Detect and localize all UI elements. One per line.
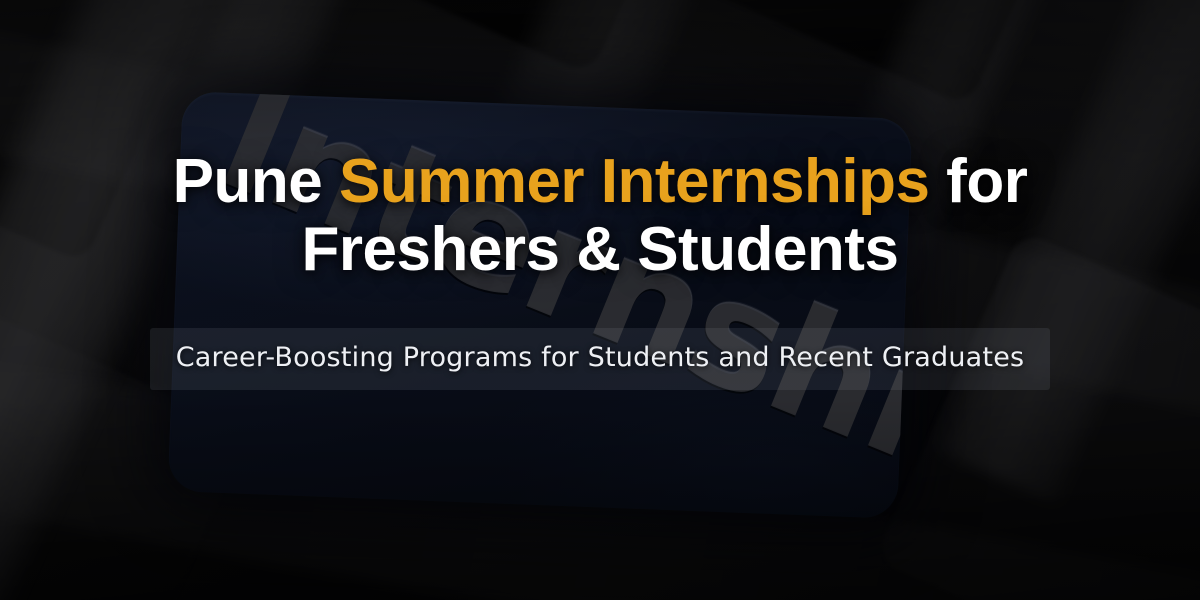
hero-banner: Internship Pune Summer Internships for F… bbox=[0, 0, 1200, 600]
headline-line-2: Freshers & Students bbox=[50, 216, 1150, 284]
subtitle-container: Career-Boosting Programs for Students an… bbox=[0, 328, 1200, 390]
headline-line-1: Pune Summer Internships for bbox=[50, 148, 1150, 216]
headline-accent-text: Summer Internships bbox=[339, 147, 929, 216]
banner-subtitle: Career-Boosting Programs for Students an… bbox=[150, 328, 1051, 390]
banner-content: Pune Summer Internships for Freshers & S… bbox=[0, 0, 1200, 600]
headline-text-after: for bbox=[929, 147, 1027, 216]
headline-text-before: Pune bbox=[173, 147, 339, 216]
page-title: Pune Summer Internships for Freshers & S… bbox=[50, 148, 1150, 284]
